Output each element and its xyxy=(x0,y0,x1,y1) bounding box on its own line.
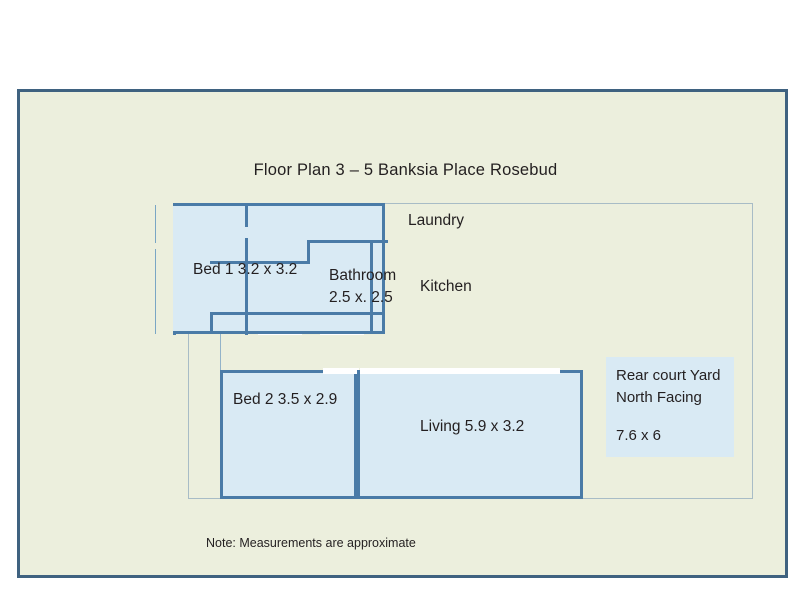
wall-laundry-interior-top xyxy=(307,240,388,243)
page-title: Floor Plan 3 – 5 Banksia Place Rosebud xyxy=(20,161,791,180)
wall-laundry-left-lower xyxy=(245,238,248,334)
wall-bed-1-divider-lower xyxy=(155,249,156,334)
plan-outer-frame: Floor Plan 3 – 5 Banksia Place Rosebud xyxy=(17,89,788,578)
label-kitchen: Kitchen xyxy=(420,277,472,298)
doorway-living-top xyxy=(360,368,560,374)
wall-kitchen-bench-left xyxy=(210,312,213,334)
courtyard-label-box: Rear court Yard North Facing 7.6 x 6 xyxy=(606,357,734,457)
label-bathroom-name: Bathroom xyxy=(329,266,396,287)
label-bed-2: Bed 2 3.5 x 2.9 xyxy=(233,390,337,411)
footer-note: Note: Measurements are approximate xyxy=(206,536,416,550)
wall-kitchen-bench-top xyxy=(210,312,385,315)
label-living: Living 5.9 x 3.2 xyxy=(420,417,524,438)
label-bathroom-dimensions: 2.5 x. 2.5 xyxy=(329,288,393,309)
wall-bed-1-divider-upper xyxy=(155,205,156,243)
courtyard-line-2: North Facing xyxy=(616,389,702,406)
label-bed-1: Bed 1 3.2 x 3.2 xyxy=(193,260,297,281)
courtyard-dimensions: 7.6 x 6 xyxy=(616,427,661,444)
wall-laundry-left-upper xyxy=(245,203,248,227)
label-laundry: Laundry xyxy=(408,211,464,232)
courtyard-line-1: Rear court Yard xyxy=(616,367,721,384)
floor-plan-canvas: Floor Plan 3 – 5 Banksia Place Rosebud xyxy=(0,0,800,600)
doorway-bed-2-top-right xyxy=(323,368,359,374)
